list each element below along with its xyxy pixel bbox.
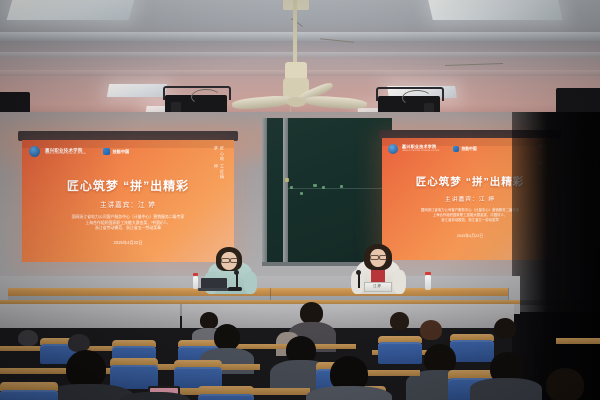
chalkboard-rail	[262, 118, 267, 264]
chalk-mark	[300, 192, 303, 195]
speaker-left-arm	[244, 272, 257, 294]
audience-row-panel	[0, 304, 180, 328]
ceiling	[0, 0, 600, 118]
ceiling-panel-light	[107, 84, 167, 97]
college-logo-text: 嘉兴职业技术学院 JIAXING VOCATIONAL TECHNICAL CO…	[45, 148, 89, 156]
slide-vertical-text-left: 匠心筑梦 工匠精神	[213, 146, 225, 180]
ceiling-wire	[445, 63, 503, 66]
fan-rod	[293, 0, 297, 62]
audience-chair[interactable]	[378, 342, 422, 364]
slide-date: 2025年4月22日	[22, 240, 234, 246]
slide-subtitle: 主讲嘉宾：江 婷	[22, 199, 234, 209]
slide-body-line: 浙江省劳动模范、浙江省五一劳动奖章	[22, 225, 234, 231]
audience-head	[200, 312, 218, 329]
bottle-cap	[425, 272, 431, 275]
ceiling-panel-light	[7, 0, 136, 20]
audience-head	[390, 312, 409, 330]
audience-row-desk	[556, 338, 600, 344]
microphone-base	[228, 287, 242, 291]
slide-logo-group: 嘉兴职业技术学院 JIAXING VOCATIONAL TECHNICAL CO…	[29, 146, 129, 157]
audience-head	[66, 350, 106, 388]
audience-head	[546, 368, 584, 400]
audience-head	[300, 302, 323, 324]
water-bottle	[193, 276, 198, 289]
microphone-head	[356, 270, 361, 275]
college-logo-icon	[29, 146, 40, 157]
screenshot-root: 嘉兴职业技术学院 JIAXING VOCATIONAL TECHNICAL CO…	[0, 0, 600, 400]
chalk-mark	[290, 186, 293, 189]
fan-blade	[232, 94, 293, 110]
audience-head	[18, 330, 38, 346]
chalk-mark	[340, 185, 343, 188]
chalk-mark	[313, 184, 317, 187]
audience-shoulders	[120, 392, 190, 400]
secondary-logo: 技能中国	[103, 148, 129, 155]
projection-screen-left: 嘉兴职业技术学院 JIAXING VOCATIONAL TECHNICAL CO…	[22, 140, 234, 262]
audience-head	[214, 324, 240, 350]
audience-area	[0, 300, 600, 400]
audience-shoulders	[306, 386, 392, 400]
skill-logo-icon	[103, 148, 110, 155]
chalkboard-rail	[283, 118, 288, 264]
ceiling-beam	[0, 32, 600, 41]
slide-body: 国网浙江省电力公司客户服务中心（计量中心）营销服务二级专家 上海合作组织国家职工…	[22, 214, 234, 231]
stage-light-cord	[402, 90, 432, 106]
ceiling-beam	[0, 52, 600, 57]
name-plate-text: 江 婷	[364, 283, 390, 288]
bottle-cap	[193, 273, 198, 276]
fan-blade	[305, 95, 368, 110]
audience-head	[494, 318, 516, 339]
chalkboard-seam	[288, 188, 392, 189]
speaker-right-glasses	[379, 255, 388, 260]
audience-head	[420, 320, 442, 340]
secondary-logo: 技能中国	[453, 146, 476, 152]
stage-light-cord	[191, 89, 221, 105]
audience-row-panel	[314, 304, 514, 328]
laptop-base	[198, 288, 230, 291]
college-logo-icon	[388, 144, 398, 154]
skill-logo-icon	[453, 146, 459, 152]
chalk-mark	[322, 186, 325, 189]
audience-chair[interactable]	[198, 394, 254, 400]
audience-chair[interactable]	[450, 340, 494, 362]
microphone-head	[234, 270, 239, 275]
water-bottle	[425, 275, 431, 290]
slide-logo-group: 嘉兴职业技术学院 JIAXING VOCATIONAL TECHNICAL CO…	[388, 144, 477, 154]
slide-title: 匠心筑梦 “拼”出精彩	[22, 177, 234, 194]
chalk-piece	[285, 178, 289, 182]
ceiling-panel-light	[427, 0, 563, 20]
college-logo-text: 嘉兴职业技术学院 JIAXING VOCATIONAL TECHNICAL CO…	[402, 145, 442, 152]
speaker-right-glasses	[370, 255, 379, 260]
audience-chair[interactable]	[0, 390, 58, 400]
chalkboard	[262, 118, 392, 264]
speaker-left-glasses	[230, 258, 239, 263]
speaker-right-arm	[393, 270, 406, 294]
speaker-left-glasses	[221, 258, 230, 263]
audience-shoulders	[470, 378, 542, 400]
